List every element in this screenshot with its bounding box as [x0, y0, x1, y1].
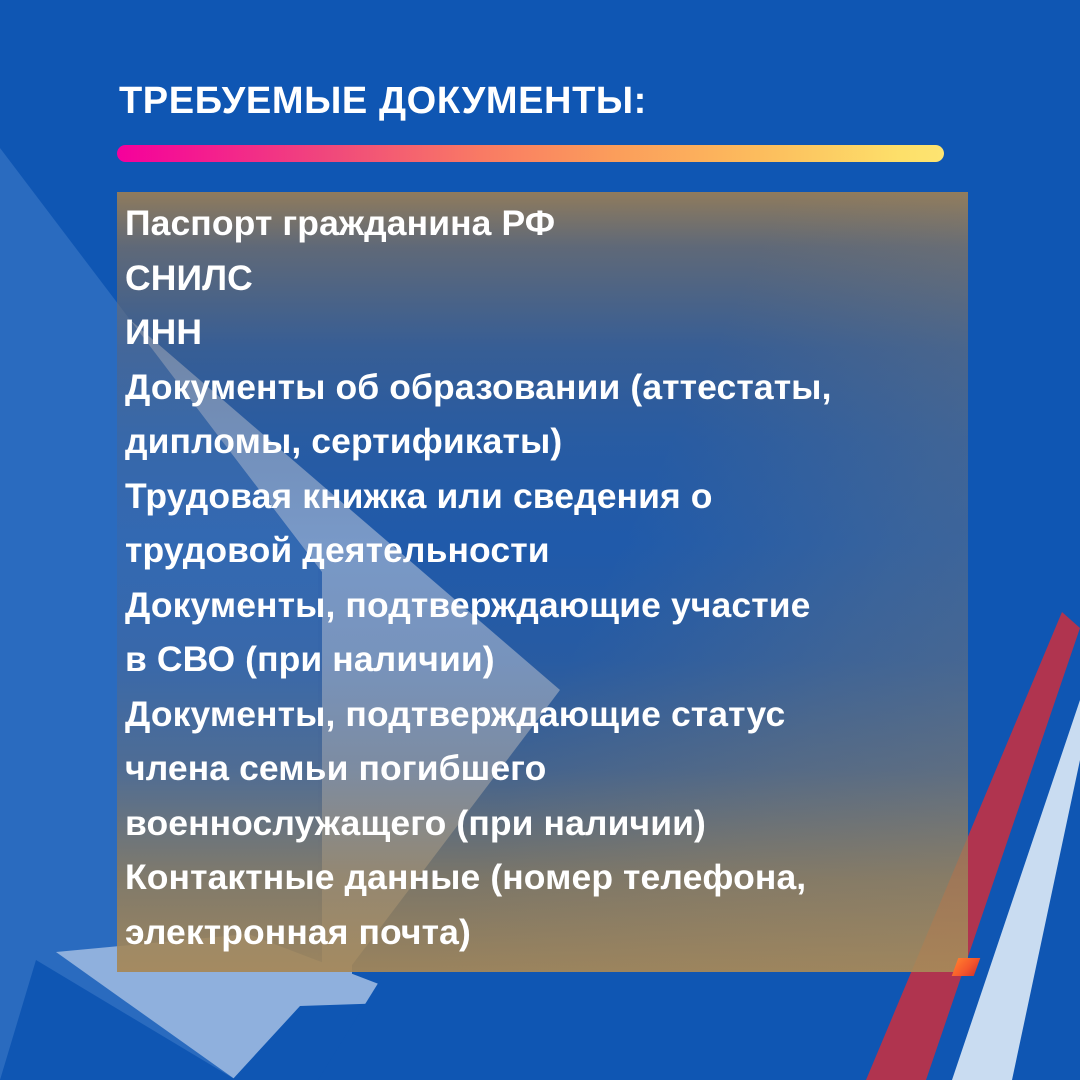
chevron-lower-right-block: [232, 980, 1080, 1080]
list-item: ИНН: [125, 305, 962, 360]
list-item: Контактные данные (номер телефона,: [125, 850, 962, 905]
documents-panel: Паспорт гражданина РФ СНИЛС ИНН Документ…: [117, 192, 968, 972]
page-title: ТРЕБУЕМЫЕ ДОКУМЕНТЫ:: [119, 80, 647, 123]
list-item: дипломы, сертификаты): [125, 414, 962, 469]
chevron-lower-wedge-cut: [236, 1010, 630, 1080]
list-item: Трудовая книжка или сведения о: [125, 469, 962, 524]
chevron-lower-left-light: [0, 960, 236, 1080]
list-item: Документы, подтверждающие статус: [125, 687, 962, 742]
list-item: Документы об образовании (аттестаты,: [125, 360, 962, 415]
list-item: Паспорт гражданина РФ: [125, 196, 962, 251]
list-item: Документы, подтверждающие участие: [125, 578, 962, 633]
list-item: электронная почта): [125, 905, 962, 960]
accent-gradient-bar: [117, 145, 944, 162]
list-item: военнослужащего (при наличии): [125, 796, 962, 851]
list-item: СНИЛС: [125, 251, 962, 306]
list-item: в СВО (при наличии): [125, 632, 962, 687]
stripe-pale-blue: [952, 700, 1080, 1080]
documents-list: Паспорт гражданина РФ СНИЛС ИНН Документ…: [125, 196, 962, 959]
list-item: члена семьи погибшего: [125, 741, 962, 796]
poster-canvas: ТРЕБУЕМЫЕ ДОКУМЕНТЫ: Паспорт гражданина …: [0, 0, 1080, 1080]
list-item: трудовой деятельности: [125, 523, 962, 578]
corner-accent: [952, 958, 981, 976]
